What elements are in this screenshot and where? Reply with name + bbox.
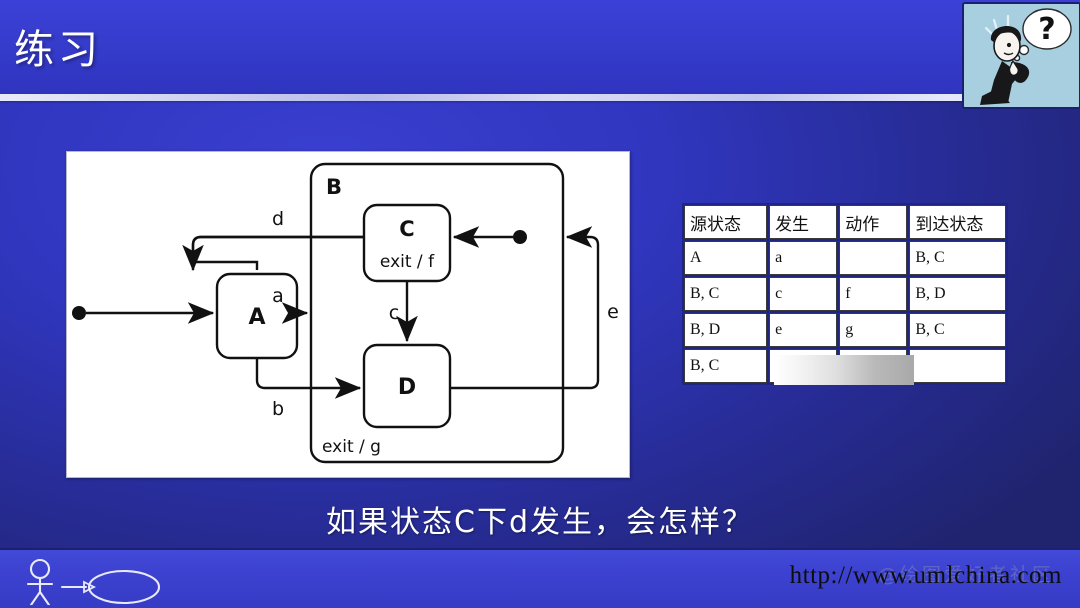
cell-event: e [769, 313, 837, 347]
table-header-row: 源状态 发生 动作 到达状态 [684, 205, 1006, 239]
cell-event: c [769, 277, 837, 311]
cell-source: B, C [684, 349, 767, 383]
question-text: 如果状态C下d发生，会怎样？ [0, 497, 1080, 541]
state-A-label: A [248, 305, 265, 330]
uml-usecase-actor-icon [14, 555, 179, 608]
cell-action: g [839, 313, 907, 347]
svg-text:?: ? [1038, 12, 1055, 47]
table-header-source: 源状态 [684, 205, 767, 239]
transition-label-c: c [389, 302, 399, 324]
table-header-action: 动作 [839, 205, 907, 239]
title-divider [0, 94, 1080, 101]
thinking-person-icon: ? [962, 2, 1080, 109]
table-row: B, D e g B, C [684, 313, 1006, 347]
cell-action: f [839, 277, 907, 311]
site-url: http://www.umlchina.com [790, 562, 1062, 590]
table-header-target: 到达状态 [909, 205, 1006, 239]
cell-target [909, 349, 1006, 383]
cell-source: A [684, 241, 767, 275]
cell-target: B, C [909, 241, 1006, 275]
cell-target: B, C [909, 313, 1006, 347]
state-C-exit-label: exit / f [380, 252, 435, 272]
table-row: A a B, C [684, 241, 1006, 275]
state-B-exit-label: exit / g [322, 437, 381, 457]
transition-label-b: b [272, 398, 284, 420]
state-C-label: C [399, 217, 414, 241]
table-header-event: 发生 [769, 205, 837, 239]
cell-event: d [769, 349, 837, 383]
slide-root: 练习 ? [0, 0, 1080, 608]
cell-source: B, C [684, 277, 767, 311]
state-diagram-panel: A C D B exit / f exit / g a b c d e [66, 151, 630, 478]
transition-table: 源状态 发生 动作 到达状态 A a B, C B, C c f B, D [682, 203, 1008, 386]
title-band [0, 0, 1080, 100]
state-D-label: D [398, 375, 416, 400]
cell-action [839, 349, 907, 383]
cell-source: B, D [684, 313, 767, 347]
state-B-label: B [326, 175, 342, 199]
cell-target: B, D [909, 277, 1006, 311]
cell-action [839, 241, 907, 275]
cell-event: a [769, 241, 837, 275]
transition-label-a: a [272, 285, 284, 307]
page-title: 练习 [14, 30, 102, 70]
transition-label-e: e [607, 301, 619, 323]
table-row: B, C c f B, D [684, 277, 1006, 311]
table-row-masked: B, C d [684, 349, 1006, 383]
transition-label-d: d [272, 208, 284, 230]
footer-bar: @绘图爱好者社区 http://www.umlchina.com [0, 548, 1080, 608]
